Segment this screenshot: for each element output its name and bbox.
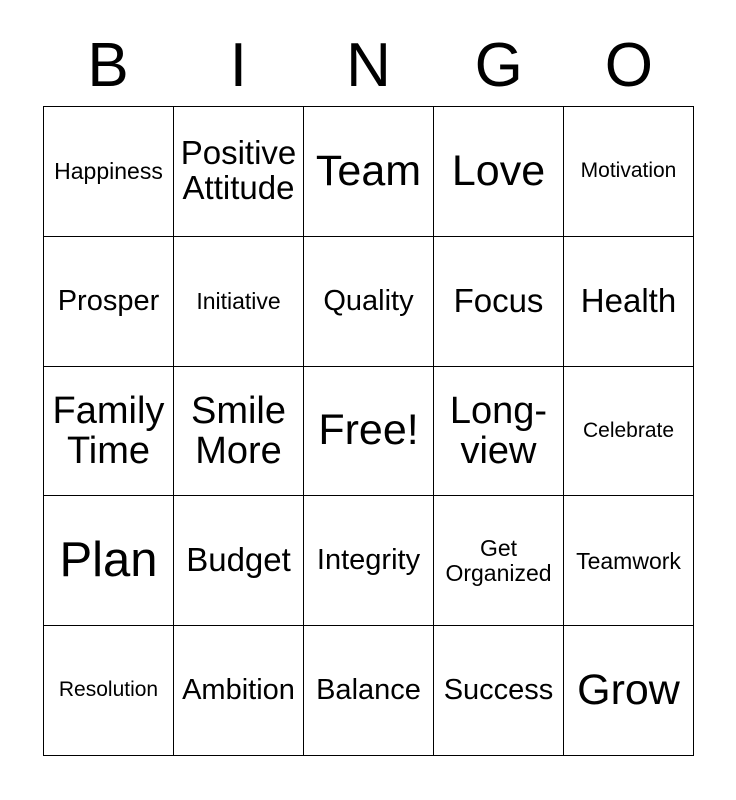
header-letter-b: B bbox=[43, 35, 173, 97]
bingo-cell-label: Team bbox=[307, 149, 430, 195]
bingo-cell[interactable]: Focus bbox=[434, 237, 564, 367]
bingo-cell[interactable]: Teamwork bbox=[564, 496, 694, 626]
bingo-cell[interactable]: Smile More bbox=[174, 367, 304, 497]
bingo-cell-label: Love bbox=[437, 149, 560, 195]
bingo-cell-label: Initiative bbox=[177, 289, 300, 313]
bingo-cell-label: Ambition bbox=[177, 675, 300, 706]
bingo-cell[interactable]: Initiative bbox=[174, 237, 304, 367]
bingo-cell-label: Health bbox=[567, 284, 690, 319]
bingo-cell[interactable]: Long- view bbox=[434, 367, 564, 497]
bingo-cell[interactable]: Free! bbox=[304, 367, 434, 497]
bingo-cell-label: Positive Attitude bbox=[177, 136, 300, 206]
bingo-cell[interactable]: Happiness bbox=[44, 107, 174, 237]
bingo-grid: HappinessPositive AttitudeTeamLoveMotiva… bbox=[43, 106, 694, 756]
bingo-cell[interactable]: Grow bbox=[564, 626, 694, 756]
bingo-cell[interactable]: Love bbox=[434, 107, 564, 237]
bingo-cell[interactable]: Family Time bbox=[44, 367, 174, 497]
bingo-cell-label: Happiness bbox=[47, 159, 170, 183]
bingo-cell-label: Grow bbox=[567, 668, 690, 714]
bingo-cell-label: Family Time bbox=[47, 391, 170, 472]
bingo-cell-label: Free! bbox=[307, 408, 430, 454]
bingo-cell-label: Prosper bbox=[47, 286, 170, 317]
bingo-card: B I N G O HappinessPositive AttitudeTeam… bbox=[0, 0, 736, 800]
bingo-cell-label: Long- view bbox=[437, 391, 560, 472]
bingo-cell-label: Success bbox=[437, 675, 560, 706]
bingo-cell[interactable]: Balance bbox=[304, 626, 434, 756]
bingo-cell[interactable]: Plan bbox=[44, 496, 174, 626]
bingo-cell[interactable]: Health bbox=[564, 237, 694, 367]
bingo-cell-label: Balance bbox=[307, 675, 430, 706]
bingo-cell[interactable]: Integrity bbox=[304, 496, 434, 626]
bingo-cell[interactable]: Ambition bbox=[174, 626, 304, 756]
bingo-cell[interactable]: Get Organized bbox=[434, 496, 564, 626]
bingo-cell[interactable]: Budget bbox=[174, 496, 304, 626]
bingo-cell[interactable]: Resolution bbox=[44, 626, 174, 756]
bingo-cell-label: Motivation bbox=[567, 160, 690, 182]
bingo-cell-label: Integrity bbox=[307, 545, 430, 576]
bingo-cell[interactable]: Success bbox=[434, 626, 564, 756]
bingo-cell-label: Smile More bbox=[177, 391, 300, 472]
bingo-cell[interactable]: Positive Attitude bbox=[174, 107, 304, 237]
bingo-cell[interactable]: Quality bbox=[304, 237, 434, 367]
bingo-cell[interactable]: Team bbox=[304, 107, 434, 237]
bingo-cell-label: Celebrate bbox=[567, 420, 690, 442]
bingo-cell[interactable]: Celebrate bbox=[564, 367, 694, 497]
bingo-cell[interactable]: Motivation bbox=[564, 107, 694, 237]
bingo-cell-label: Quality bbox=[307, 286, 430, 317]
bingo-cell-label: Plan bbox=[47, 535, 170, 587]
bingo-cell[interactable]: Prosper bbox=[44, 237, 174, 367]
header-letter-g: G bbox=[434, 35, 564, 97]
bingo-cell-label: Resolution bbox=[47, 679, 170, 701]
bingo-cell-label: Focus bbox=[437, 284, 560, 319]
header-letter-n: N bbox=[303, 35, 433, 97]
bingo-cell-label: Budget bbox=[177, 543, 300, 578]
header-letter-o: O bbox=[564, 35, 694, 97]
bingo-cell-label: Teamwork bbox=[567, 549, 690, 573]
header-letter-i: I bbox=[173, 35, 303, 97]
bingo-cell-label: Get Organized bbox=[437, 536, 560, 585]
bingo-header: B I N G O bbox=[43, 30, 694, 102]
